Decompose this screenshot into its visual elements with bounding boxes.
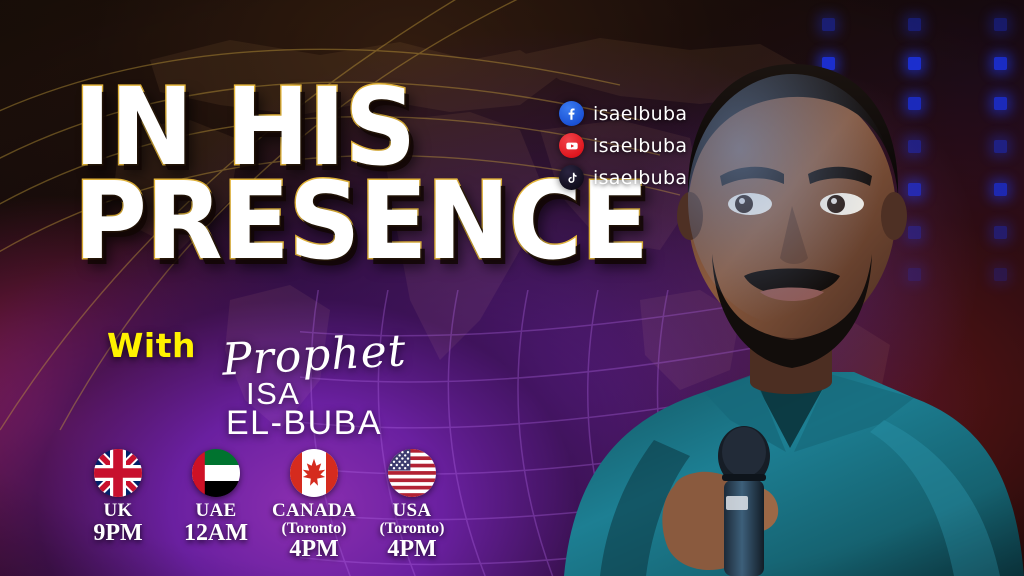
timezone-country-uk: UK (93, 501, 142, 521)
speaker-last-name: EL-BUBA (226, 404, 382, 443)
with-label: With (107, 326, 196, 365)
uk-flag-icon (94, 449, 142, 497)
timezone-country-usa: USA (380, 501, 445, 521)
event-flyer: IN HIS PRESENCE isaelbuba isaelbuba (0, 0, 1024, 576)
facebook-handle: isaelbuba (593, 103, 687, 125)
timezone-text-uae: UAE 12AM (184, 501, 248, 546)
timezone-time-uae: 12AM (184, 521, 248, 546)
social-row-tiktok[interactable]: isaelbuba (559, 163, 687, 192)
uae-flag-icon (192, 449, 240, 497)
tiktok-icon (559, 165, 584, 190)
social-row-facebook[interactable]: isaelbuba (559, 99, 687, 128)
timezone-time-usa: 4PM (380, 537, 445, 562)
timezone-list: UK 9PM UAE 12AM (76, 449, 454, 562)
social-links: isaelbuba isaelbuba isaelbuba (559, 99, 687, 195)
facebook-icon (559, 101, 584, 126)
timezone-country-canada: CANADA (272, 501, 356, 521)
timezone-text-uk: UK 9PM (93, 501, 142, 546)
timezone-text-usa: USA (Toronto) 4PM (380, 501, 445, 562)
timezone-item-canada: CANADA (Toronto) 4PM (272, 449, 356, 562)
timezone-item-uae: UAE 12AM (174, 449, 258, 546)
timezone-time-canada: 4PM (272, 537, 356, 562)
youtube-icon (559, 133, 584, 158)
social-row-youtube[interactable]: isaelbuba (559, 131, 687, 160)
timezone-item-uk: UK 9PM (76, 449, 160, 546)
timezone-city-canada: (Toronto) (272, 521, 356, 538)
tiktok-handle: isaelbuba (593, 167, 687, 189)
timezone-city-usa: (Toronto) (380, 521, 445, 538)
youtube-handle: isaelbuba (593, 135, 687, 157)
timezone-item-usa: USA (Toronto) 4PM (370, 449, 454, 562)
timezone-time-uk: 9PM (93, 521, 142, 546)
timezone-country-uae: UAE (184, 501, 248, 521)
timezone-text-canada: CANADA (Toronto) 4PM (272, 501, 356, 562)
usa-flag-icon (388, 449, 436, 497)
canada-flag-icon (290, 449, 338, 497)
